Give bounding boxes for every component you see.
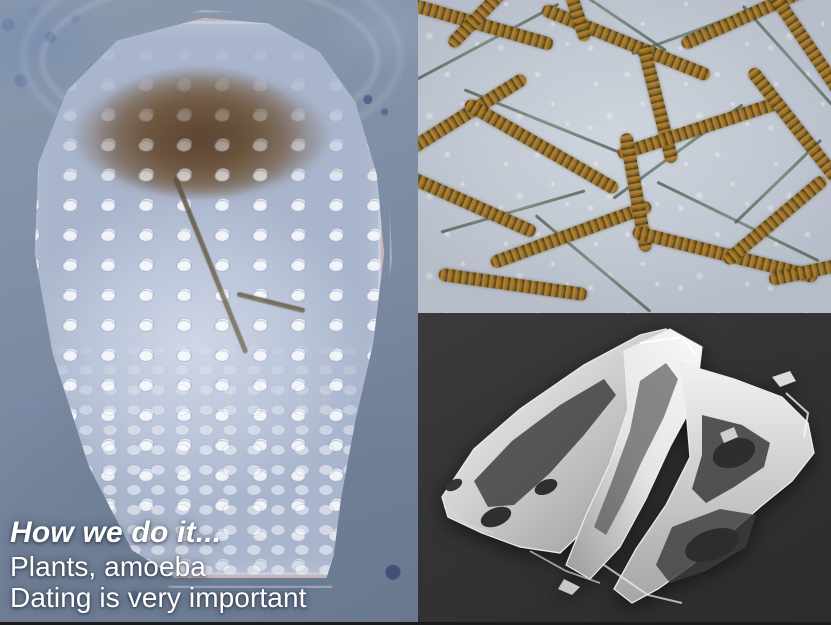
caption-headline: How we do it... [10, 517, 410, 548]
panel-amoeba-micrograph: How we do it... Plants, amoeba Dating is… [0, 0, 418, 622]
presentation-slide: How we do it... Plants, amoeba Dating is… [0, 0, 831, 625]
panel-plant-vessel-micrograph [418, 0, 831, 313]
caption-line-1: Plants, amoeba [10, 552, 410, 581]
panel-sem-micrograph [418, 313, 831, 622]
caption-line-2: Dating is very important [10, 583, 410, 612]
sem-specimen [434, 321, 816, 611]
slide-caption: How we do it... Plants, amoeba Dating is… [10, 517, 410, 614]
